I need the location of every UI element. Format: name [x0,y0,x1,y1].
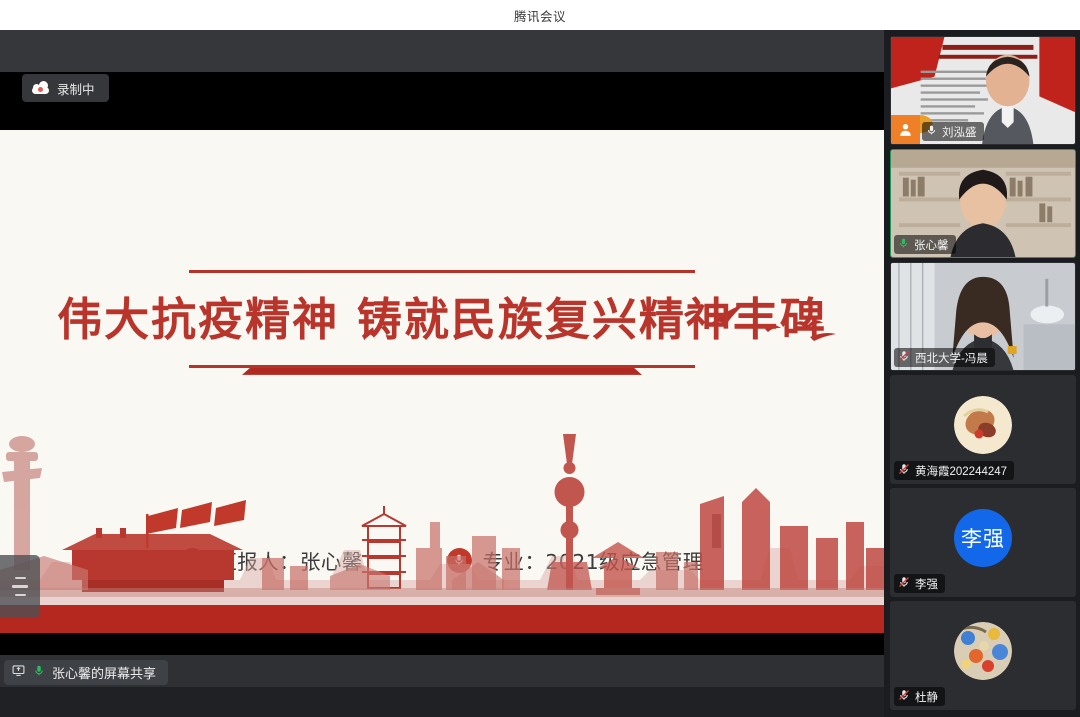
slide-title-block: 伟大抗疫精神 铸就民族复兴精神丰碑 [0,270,884,377]
avatar-initials: 李强 [961,523,1005,553]
participant-filmstrip[interactable]: 刘泓盛 [884,30,1080,717]
tencent-meeting-window: 腾讯会议 伟大抗疫精神 铸就民族复兴精神丰碑 [0,0,1080,717]
participant-name: 黄海霞202244247 [915,463,1007,479]
screen-share-pill[interactable]: 张心馨的屏幕共享 [4,660,168,685]
microphone-muted-icon [898,349,910,367]
participant-name: 刘泓盛 [942,124,977,140]
avatar: 李强 [954,509,1012,567]
screen-share-bar: 张心馨的屏幕共享 [0,655,884,687]
participant-name-chip: 西北大学-冯晨 [894,348,995,367]
microphone-muted-icon [898,688,910,706]
participant-name-chip: 张心馨 [894,235,956,254]
participant-name-chip: 杜静 [894,687,945,706]
participant-tile[interactable]: 杜静 [890,601,1076,710]
screen-share-label: 张心馨的屏幕共享 [52,663,156,682]
presentation-slide: 伟大抗疫精神 铸就民族复兴精神丰碑 [0,130,884,633]
participant-name: 张心馨 [914,237,949,253]
slide-title: 伟大抗疫精神 铸就民族复兴精神丰碑 [0,295,884,345]
meeting-body: 伟大抗疫精神 铸就民族复兴精神丰碑 [0,30,1080,717]
participant-name-chip: 刘泓盛 [922,122,984,141]
title-rule-bottom [189,365,695,377]
recording-badge[interactable]: 录制中 [22,74,109,102]
participant-name: 杜静 [915,689,938,705]
avatar [954,396,1012,454]
participant-name-chip: 黄海霞202244247 [894,461,1014,480]
china-cityscape-icon [0,430,884,605]
participant-name: 西北大学-冯晨 [915,350,988,366]
avatar [954,622,1012,680]
participant-tile[interactable]: 刘泓盛 [890,36,1076,145]
list-menu-icon[interactable] [0,555,40,618]
participant-name: 李强 [915,576,938,592]
window-title: 腾讯会议 [514,6,566,25]
title-rule-top [189,270,695,273]
participant-tile[interactable]: 张心馨 [890,149,1076,258]
microphone-on-icon [898,236,909,254]
host-badge [891,115,920,144]
microphone-on-icon [926,123,937,141]
screen-share-icon [11,664,26,682]
microphone-muted-icon [898,462,910,480]
recording-label: 录制中 [57,79,95,98]
slide-red-band [0,605,884,633]
participant-tile[interactable]: 黄海霞202244247 [890,375,1076,484]
participant-tile[interactable]: 西北大学-冯晨 [890,262,1076,371]
window-titlebar: 腾讯会议 [0,0,1080,30]
participant-tile[interactable]: 李强 李强 [890,488,1076,597]
participant-name-chip: 李强 [894,574,945,593]
cloud-recording-icon [32,82,49,94]
microphone-on-icon [33,664,45,682]
microphone-muted-icon [898,575,910,593]
shared-screen-stage[interactable]: 伟大抗疫精神 铸就民族复兴精神丰碑 [0,30,884,687]
